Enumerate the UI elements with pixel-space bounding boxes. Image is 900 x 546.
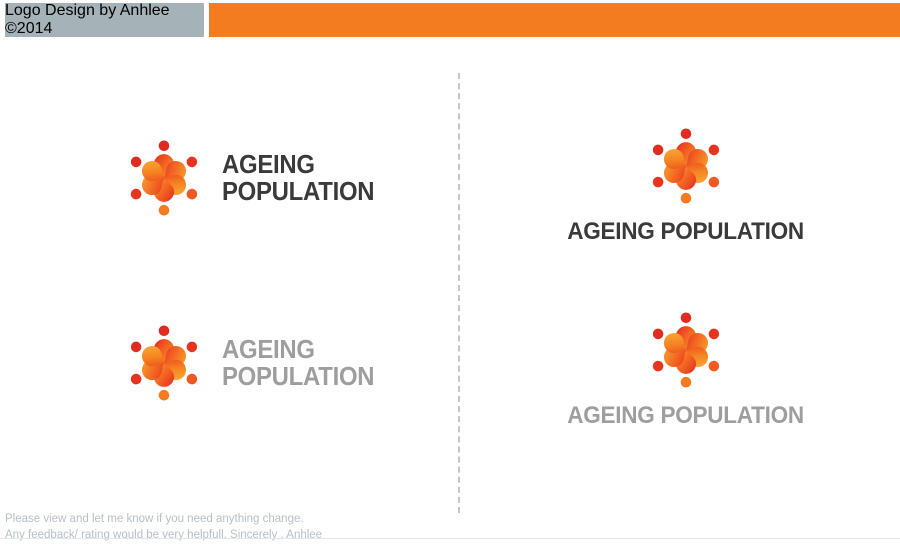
credit-badge: Logo Design by Anhlee ©2014 xyxy=(5,3,204,37)
people-star-icon xyxy=(640,304,732,396)
wordmark-horizontal-gray: AGEING POPULATION xyxy=(222,336,374,389)
logo-variant-horizontal-gray[interactable]: AGEING POPULATION xyxy=(118,317,388,409)
logo-variant-stacked-dark[interactable]: AGEING POPULATION xyxy=(578,120,794,244)
wordmark-line-2: POPULATION xyxy=(222,363,374,390)
footer-line-2: Any feedback/ rating would be very helpf… xyxy=(5,527,322,543)
accent-bar xyxy=(209,3,900,37)
presentation-canvas: AGEING POPULATION xyxy=(0,42,900,546)
logo-variant-stacked-gray[interactable]: AGEING POPULATION xyxy=(578,304,794,428)
vertical-dashed-divider xyxy=(458,73,460,513)
logo-variant-horizontal-dark[interactable]: AGEING POPULATION xyxy=(118,132,388,224)
footer-line-1: Please view and let me know if you need … xyxy=(5,511,322,527)
wordmark-single-line: AGEING POPULATION xyxy=(568,403,805,428)
people-star-icon xyxy=(640,120,732,212)
wordmark-stacked-gray: AGEING POPULATION xyxy=(568,403,805,428)
wordmark-line-1: AGEING xyxy=(222,151,374,178)
people-star-icon xyxy=(118,317,210,409)
wordmark-line-2: POPULATION xyxy=(222,178,374,205)
wordmark-line-1: AGEING xyxy=(222,336,374,363)
footer-rule xyxy=(0,538,900,539)
wordmark-horizontal-dark: AGEING POPULATION xyxy=(222,151,374,204)
wordmark-stacked-dark: AGEING POPULATION xyxy=(568,219,805,244)
header-bar: Logo Design by Anhlee ©2014 xyxy=(0,0,900,42)
credit-badge-label: Logo Design by Anhlee ©2014 xyxy=(5,2,204,38)
wordmark-single-line: AGEING POPULATION xyxy=(568,219,805,244)
people-star-icon xyxy=(118,132,210,224)
